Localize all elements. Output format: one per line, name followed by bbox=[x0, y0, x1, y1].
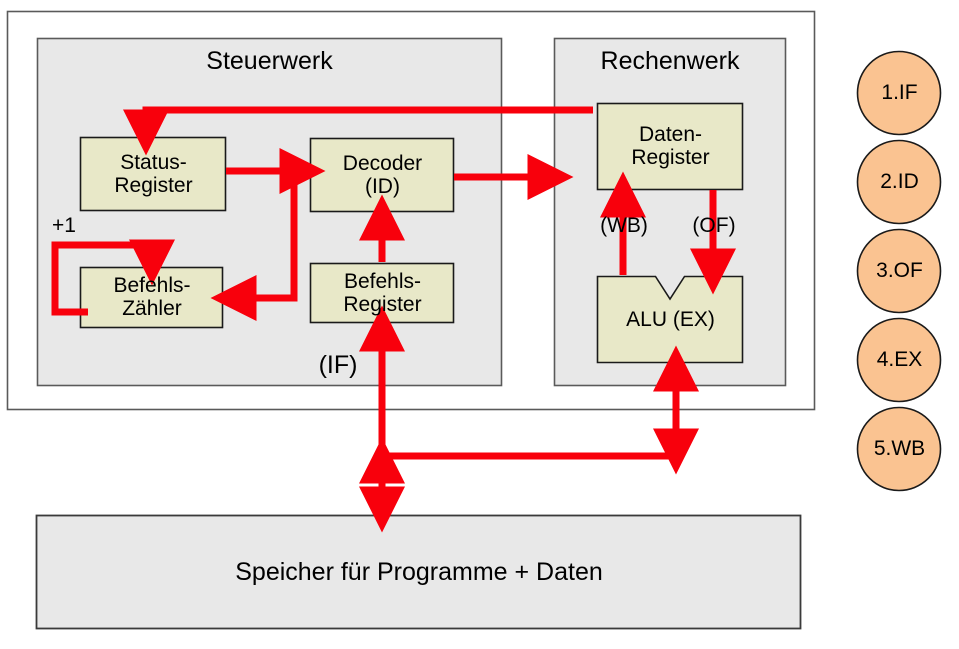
stage-circle-1 bbox=[858, 52, 941, 135]
diagram-vector-layer bbox=[0, 0, 959, 649]
diagram-canvas: Steuerwerk Rechenwerk Status- Register D… bbox=[0, 0, 959, 649]
stage-circle-3 bbox=[858, 230, 941, 313]
pipeline-stage-circles bbox=[858, 52, 941, 491]
stage-circle-2 bbox=[858, 141, 941, 224]
befehls-zaehler-box bbox=[81, 268, 223, 328]
befehls-register-box bbox=[311, 264, 454, 323]
daten-register-box bbox=[598, 104, 743, 190]
memory-box bbox=[37, 516, 801, 629]
decoder-box bbox=[311, 139, 454, 212]
status-register-box bbox=[81, 138, 226, 211]
stage-circle-5 bbox=[858, 408, 941, 491]
stage-circle-4 bbox=[858, 319, 941, 402]
